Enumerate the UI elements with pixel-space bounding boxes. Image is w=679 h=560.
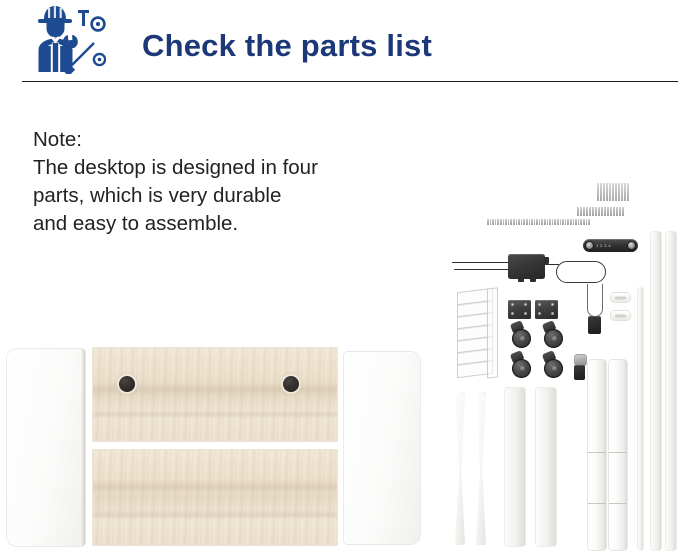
screw xyxy=(603,183,605,201)
screw xyxy=(578,219,580,225)
psu-connector xyxy=(530,278,536,282)
cable-management-tray xyxy=(457,288,497,378)
curved-foot xyxy=(452,392,465,545)
caster-wheel-assembly xyxy=(541,352,567,380)
cable-clip xyxy=(611,311,630,320)
screw xyxy=(622,207,624,216)
screw xyxy=(557,219,559,225)
screw xyxy=(510,219,512,225)
screw xyxy=(575,219,577,225)
cross-beam xyxy=(638,288,643,550)
plate-hole xyxy=(511,312,514,315)
leg-latch-bracket xyxy=(575,355,586,365)
psu-connector xyxy=(518,278,524,282)
upper-wood-desktop-panel xyxy=(93,348,337,441)
leg-section-seam xyxy=(609,503,627,504)
tool-size-markings: 1 2 3 4 xyxy=(596,243,611,248)
handset-cable xyxy=(587,284,603,317)
screw xyxy=(554,219,556,225)
screw xyxy=(534,219,536,225)
screw xyxy=(615,183,617,201)
screw xyxy=(544,219,546,225)
mounting-plate xyxy=(508,300,531,319)
screw xyxy=(487,219,489,225)
screw xyxy=(549,219,551,225)
leg-lock-block xyxy=(574,365,585,380)
screw xyxy=(600,183,602,201)
control-box-handset xyxy=(584,284,610,340)
small-screws-row xyxy=(487,219,591,225)
leg-highlight xyxy=(611,364,613,546)
leg-section-seam xyxy=(609,452,627,453)
screw xyxy=(586,207,588,216)
tool-ring-left xyxy=(586,242,593,249)
screw xyxy=(518,219,520,225)
leg-section-seam xyxy=(588,452,606,453)
screw xyxy=(529,219,531,225)
screw xyxy=(567,219,569,225)
plate-hole xyxy=(538,312,541,315)
tool-ring-right xyxy=(628,242,635,249)
caster-hub xyxy=(520,366,525,371)
lower-wood-desktop-panel xyxy=(93,450,337,545)
screw xyxy=(583,207,585,216)
panel-edge-shade xyxy=(81,349,85,546)
screw xyxy=(610,207,612,216)
screw xyxy=(580,219,582,225)
screw xyxy=(627,183,629,201)
screw xyxy=(562,219,564,225)
cross-beam xyxy=(651,232,661,550)
caster-hub xyxy=(552,366,557,371)
screw xyxy=(624,183,626,201)
psu-housing xyxy=(508,254,545,279)
caster-wheel-assembly xyxy=(509,352,535,380)
plate-hole xyxy=(511,303,514,306)
parts-list-page: Check the parts list Note: The desktop i… xyxy=(0,0,679,560)
plate-hole xyxy=(538,303,541,306)
left-white-end-panel xyxy=(7,349,85,546)
screw xyxy=(536,219,538,225)
psu-connector xyxy=(544,257,549,264)
screw xyxy=(497,219,499,225)
screw xyxy=(570,219,572,225)
handset-housing xyxy=(588,316,601,334)
screw xyxy=(598,207,600,216)
wood-grain-band xyxy=(93,510,337,520)
screw xyxy=(492,219,494,225)
leg-highlight xyxy=(590,364,592,546)
screw xyxy=(547,219,549,225)
plate-hole xyxy=(524,312,527,315)
psu-cable xyxy=(454,269,510,270)
screw xyxy=(508,219,510,225)
screw xyxy=(601,207,603,216)
long-screws-row xyxy=(597,183,630,201)
tool-marking: 1 2 3 4 xyxy=(596,243,611,248)
mounting-plate xyxy=(535,300,558,319)
caster-hub xyxy=(520,336,525,341)
plate-hole xyxy=(551,303,554,306)
screw xyxy=(589,207,591,216)
screw xyxy=(495,219,497,225)
screw xyxy=(597,183,599,201)
screw xyxy=(503,219,505,225)
screw xyxy=(541,219,543,225)
support-bar xyxy=(536,388,556,546)
screw xyxy=(604,207,606,216)
plate-hole xyxy=(524,303,527,306)
screw xyxy=(552,219,554,225)
telescoping-leg xyxy=(588,360,606,550)
curved-foot xyxy=(473,392,486,545)
screw xyxy=(595,207,597,216)
screw xyxy=(521,219,523,225)
screw xyxy=(616,207,618,216)
leg-section-seam xyxy=(588,503,606,504)
support-bar xyxy=(505,388,525,546)
screw xyxy=(513,219,515,225)
screw xyxy=(505,219,507,225)
screw xyxy=(565,219,567,225)
caster-hub xyxy=(552,336,557,341)
screw xyxy=(592,207,594,216)
screw xyxy=(560,219,562,225)
screw xyxy=(516,219,518,225)
power-supply-transformer xyxy=(452,248,582,290)
wood-grain-band xyxy=(93,480,337,493)
screw xyxy=(586,219,588,225)
screw xyxy=(523,219,525,225)
screw xyxy=(583,219,585,225)
screw xyxy=(588,219,590,225)
plate-hole xyxy=(551,312,554,315)
screw xyxy=(619,207,621,216)
right-white-end-panel xyxy=(344,352,420,544)
screw xyxy=(607,207,609,216)
screw xyxy=(621,183,623,201)
screw xyxy=(500,219,502,225)
screw xyxy=(526,219,528,225)
cross-beam xyxy=(666,232,676,550)
screw xyxy=(606,183,608,201)
screw xyxy=(577,207,579,216)
screw xyxy=(580,207,582,216)
cable-grommet xyxy=(119,376,135,392)
tray-side-rail xyxy=(487,287,498,378)
screw xyxy=(613,207,615,216)
screw xyxy=(531,219,533,225)
psu-cable-loop xyxy=(556,261,606,283)
screw xyxy=(490,219,492,225)
screw xyxy=(539,219,541,225)
psu-cable xyxy=(452,262,510,263)
screw xyxy=(609,183,611,201)
screw xyxy=(612,183,614,201)
caster-wheel-assembly xyxy=(509,322,535,350)
parts-illustration: 1 2 3 4 xyxy=(0,0,679,560)
caster-wheel-assembly xyxy=(541,322,567,350)
cable-clip xyxy=(611,293,630,302)
wood-grain-band xyxy=(93,410,337,419)
allen-key-multi-tool: 1 2 3 4 xyxy=(583,239,638,252)
telescoping-leg xyxy=(609,360,627,550)
medium-screws-row xyxy=(577,207,625,216)
cable-grommet xyxy=(283,376,299,392)
screw xyxy=(573,219,575,225)
screw xyxy=(618,183,620,201)
